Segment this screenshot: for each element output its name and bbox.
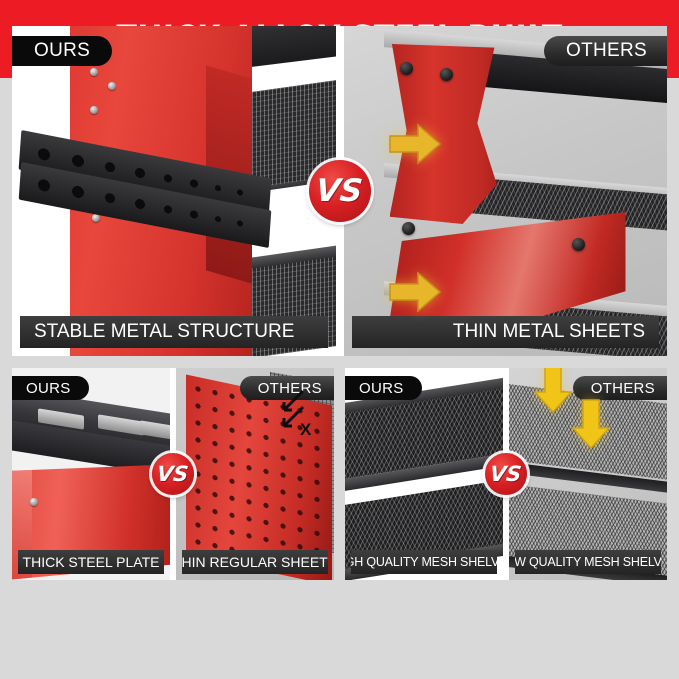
- badge-ours: OURS: [12, 36, 112, 66]
- badge-ours: OURS: [12, 376, 89, 400]
- comparison-panel-bottom-left: OURS THICK STEEL PLATE X OTHERS THIN REG…: [12, 368, 334, 580]
- rivet-icon: [90, 106, 98, 114]
- panel-br-others: OTHERS LOW QUALITY MESH SHELVES: [509, 368, 667, 580]
- caption-others-br: LOW QUALITY MESH SHELVES: [515, 550, 661, 574]
- x-mark-icon: X: [300, 420, 311, 440]
- badge-ours: OURS: [345, 376, 422, 400]
- panel-bl-others: X OTHERS THIN REGULAR SHEETS: [176, 368, 334, 580]
- rivet-icon: [108, 82, 116, 90]
- panel-top-ours: OURS STABLE METAL STRUCTURE: [12, 26, 336, 356]
- caption-ours-top: STABLE METAL STRUCTURE: [20, 316, 328, 348]
- ours-metal-structure-image: [12, 26, 336, 356]
- vs-emblem: VS: [309, 160, 371, 222]
- bolt-icon: [400, 62, 413, 75]
- bolt-icon: [572, 238, 585, 251]
- panel-bl-ours: OURS THICK STEEL PLATE: [12, 368, 170, 580]
- caption-ours-br: HIGH QUALITY MESH SHELVES: [351, 550, 497, 574]
- rivet-icon: [90, 68, 98, 76]
- vs-emblem: VS: [485, 453, 527, 495]
- comparison-panel-top: OURS STABLE METAL STRUCTURE OTHERS TH: [12, 26, 667, 356]
- rivet-icon: [232, 148, 240, 156]
- others-thin-sheet-image: [344, 26, 668, 356]
- bolt-icon: [402, 222, 415, 235]
- panel-top-others: OTHERS THIN METAL SHEETS: [344, 26, 668, 356]
- panel-br-ours: OURS HIGH QUALITY MESH SHELVES: [345, 368, 503, 580]
- badge-others: OTHERS: [544, 36, 667, 66]
- callout-arrow-down-icon: [571, 398, 611, 450]
- vs-emblem: VS: [152, 453, 194, 495]
- callout-arrow-down-icon: [533, 368, 573, 414]
- badge-others: OTHERS: [573, 376, 667, 400]
- bolt-icon: [440, 68, 453, 81]
- caption-others-top: THIN METAL SHEETS: [352, 316, 660, 348]
- callout-arrow-right-icon: [388, 122, 442, 166]
- caption-ours-bl: THICK STEEL PLATE: [18, 550, 164, 574]
- rivet-icon: [30, 498, 38, 506]
- caption-others-bl: THIN REGULAR SHEETS: [182, 550, 328, 574]
- callout-arrow-right-icon: [388, 270, 442, 314]
- comparison-panel-bottom-right: OURS HIGH QUALITY MESH SHELVES OTHERS LO…: [345, 368, 667, 580]
